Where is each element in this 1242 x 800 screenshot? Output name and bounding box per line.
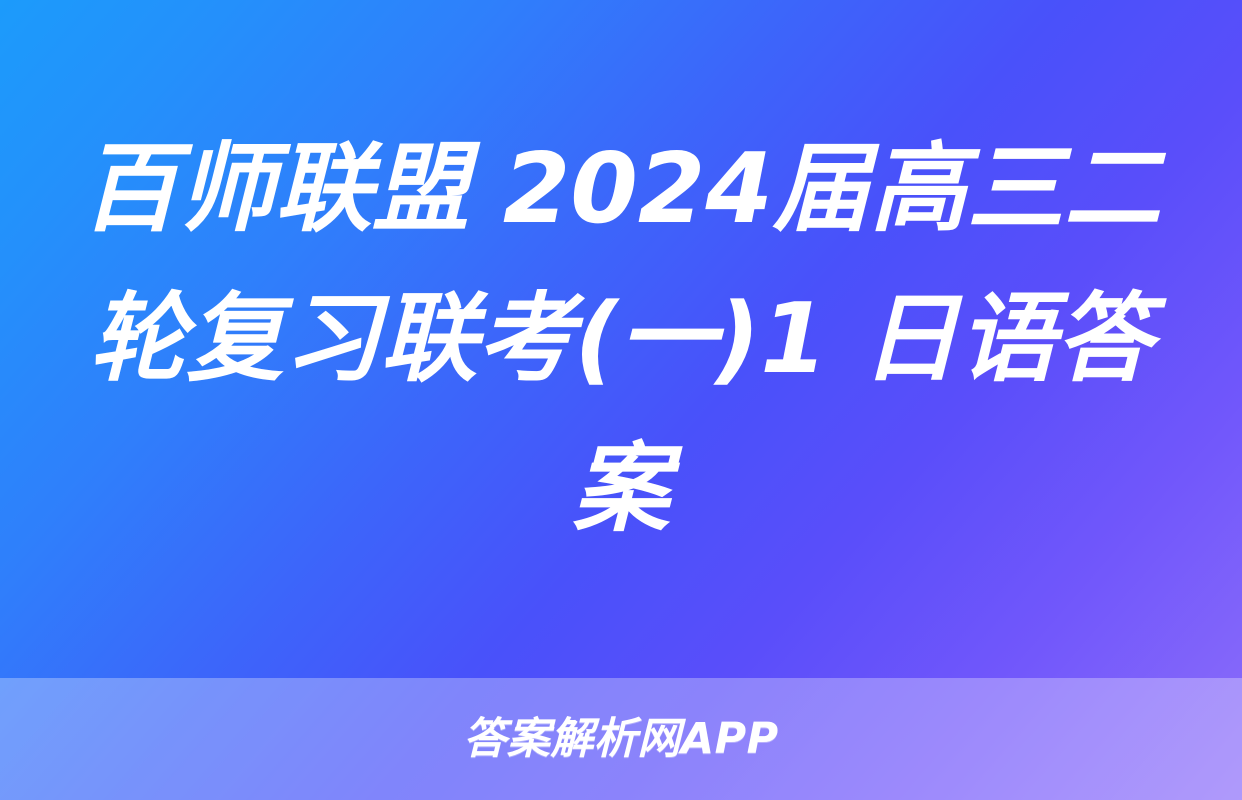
footer-watermark-band: 答案解析网APP xyxy=(0,678,1242,800)
app-watermark-label: 答案解析网APP xyxy=(463,718,778,761)
poster-canvas: 百师联盟 2024届高三二轮复习联考(一)1 日语答案 答案解析网APP xyxy=(0,0,1242,800)
page-title: 百师联盟 2024届高三二轮复习联考(一)1 日语答案 xyxy=(72,114,1170,564)
headline-area: 百师联盟 2024届高三二轮复习联考(一)1 日语答案 xyxy=(0,0,1242,678)
